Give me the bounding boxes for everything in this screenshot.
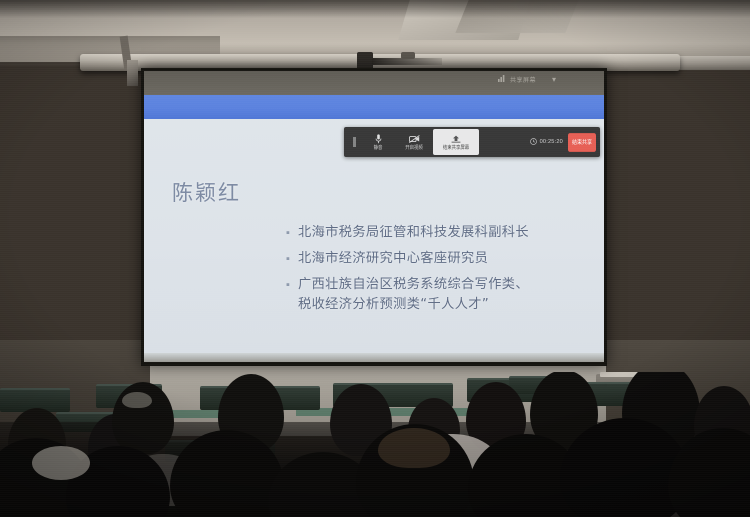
roller-bracket-lower bbox=[127, 60, 138, 86]
audience-hair-highlight bbox=[378, 428, 450, 468]
video-camera-off-icon bbox=[409, 135, 420, 144]
mute-button-label: 静音 bbox=[374, 144, 383, 150]
projection-screen-surface: 共享屏幕 ▾ 陈颖红 ▪ 北海市税务局征管和科技发展科副科长 ▪ 北海市经济研究… bbox=[144, 71, 604, 362]
video-toggle-button-label: 开启视频 bbox=[405, 144, 423, 150]
meeting-toolbar[interactable]: 静音 开启视频 bbox=[344, 127, 600, 157]
signal-bars-icon bbox=[498, 75, 506, 84]
audience-hair-highlight bbox=[122, 392, 152, 408]
bullet-marker-icon: ▪ bbox=[286, 249, 298, 269]
chevron-down-icon[interactable]: ▾ bbox=[552, 75, 556, 84]
bullet-marker-icon: ▪ bbox=[286, 223, 298, 243]
bullet-text: 北海市税务局征管和科技发展科副科长 bbox=[298, 223, 529, 243]
screen-bottom-strip bbox=[144, 353, 604, 362]
mute-button[interactable]: 静音 bbox=[361, 128, 395, 156]
video-toggle-button[interactable]: 开启视频 bbox=[397, 128, 431, 156]
screenshot-root: 共享屏幕 ▾ 陈颖红 ▪ 北海市税务局征管和科技发展科副科长 ▪ 北海市经济研究… bbox=[0, 0, 750, 517]
stop-share-button-label: 结束共享屏幕 bbox=[443, 144, 469, 150]
audience-foreground bbox=[0, 372, 750, 517]
bullet-text: 广西壮族自治区税务系统综合写作类、 税收经济分析预测类“千人人才” bbox=[298, 275, 529, 315]
end-share-button[interactable]: 结束共享 bbox=[568, 133, 596, 152]
slide-accent-band bbox=[144, 95, 604, 119]
audience-cap bbox=[32, 446, 90, 480]
slide-title: 陈颖红 bbox=[172, 177, 241, 207]
drag-handle-icon[interactable] bbox=[348, 136, 360, 148]
mini-share-control-label: 共享屏幕 bbox=[510, 75, 536, 84]
microphone-icon bbox=[375, 135, 382, 144]
ceiling-shadow bbox=[0, 0, 750, 18]
list-item: ▪ 北海市税务局征管和科技发展科副科长 bbox=[286, 223, 591, 243]
share-screen-icon bbox=[451, 135, 461, 144]
list-item: ▪ 北海市经济研究中心客座研究员 bbox=[286, 249, 591, 269]
cable-clip bbox=[401, 52, 415, 59]
meeting-timer: 00:25:20 bbox=[530, 138, 563, 147]
list-item: ▪ 广西壮族自治区税务系统综合写作类、 税收经济分析预测类“千人人才” bbox=[286, 275, 591, 315]
clock-icon bbox=[530, 138, 537, 147]
bullet-text: 北海市经济研究中心客座研究员 bbox=[298, 249, 488, 269]
meeting-timer-value: 00:25:20 bbox=[540, 139, 563, 145]
ceiling-cable bbox=[372, 58, 442, 65]
mini-share-control[interactable]: 共享屏幕 ▾ bbox=[498, 75, 556, 84]
bullet-marker-icon: ▪ bbox=[286, 275, 298, 295]
slide-bullet-list: ▪ 北海市税务局征管和科技发展科副科长 ▪ 北海市经济研究中心客座研究员 ▪ 广… bbox=[286, 223, 591, 321]
stop-share-button[interactable]: 结束共享屏幕 bbox=[433, 129, 479, 155]
